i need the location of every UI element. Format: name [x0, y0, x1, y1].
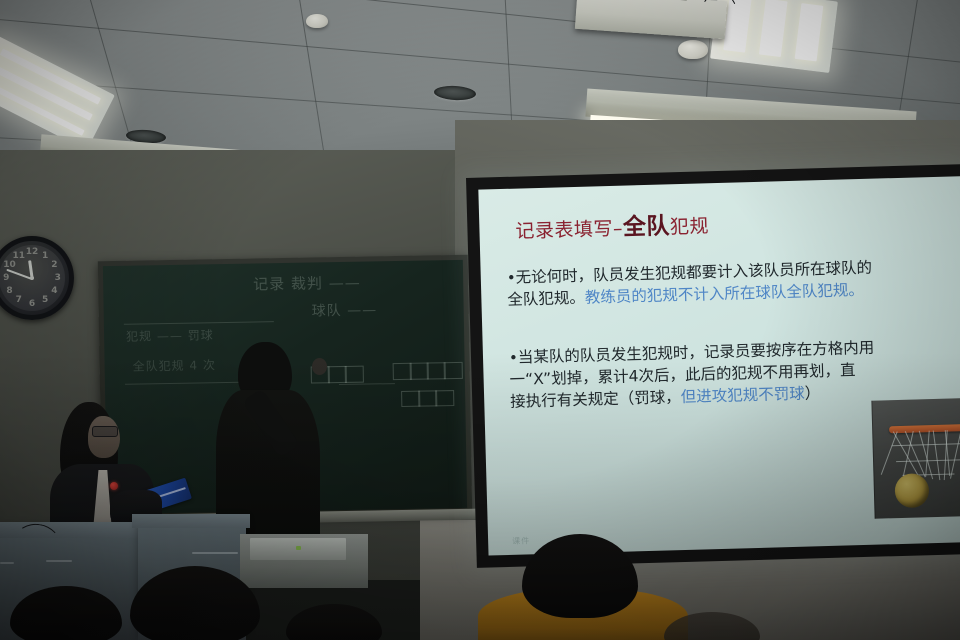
clock-numeral: 3 [55, 273, 61, 283]
podium-edge-highlight [192, 552, 238, 554]
podium-edge-highlight [0, 562, 14, 564]
clock-numeral: 1 [42, 251, 48, 261]
basketball-hoop-image [871, 398, 960, 519]
classroom-photo-scene: 12 1 2 3 4 5 6 7 8 9 10 11 记录 裁判 —— 球队 —… [0, 0, 960, 640]
podium-edge-highlight [46, 560, 72, 562]
student-silhouette-center [286, 604, 382, 640]
clock-numeral: 6 [29, 299, 35, 309]
clock-numeral: 12 [26, 247, 39, 257]
bullet-line: 接执行有关规定（罚球， [510, 388, 681, 411]
slide-footer-note: 课件 [512, 535, 530, 546]
clock-face: 12 1 2 3 4 5 6 7 8 9 10 11 [0, 245, 65, 311]
woman-face [88, 416, 120, 458]
bullet-line-highlighted: 但进攻犯规不罚球 [680, 385, 804, 406]
clock-numeral: 8 [6, 286, 12, 296]
slide-bullet-1: •无论何时，队员发生犯规都要计入该队员所在球队的 全队犯规。教练员的犯规不计入所… [506, 254, 960, 311]
lecture-podium-right-top [132, 514, 250, 528]
clock-numeral: 2 [51, 260, 57, 270]
clock-minute-hand [6, 269, 32, 280]
slide-title-prefix: 记录表填写– [515, 218, 623, 243]
slide-title-emphasis: 全队 [623, 213, 671, 240]
pc-status-led [296, 546, 301, 550]
clock-center-pin [30, 276, 34, 280]
slide-title-suffix: 犯规 [670, 215, 710, 238]
chalk-text: 全队犯规 4 次 [132, 356, 216, 374]
bullet-line-highlighted: 教练员的犯规不计入所在球队全队犯规。 [585, 281, 864, 307]
slide-title: 记录表填写–全队犯规 [515, 205, 709, 244]
basketball [894, 473, 929, 508]
clock-numeral: 7 [16, 295, 22, 305]
clock-numeral: 11 [13, 251, 26, 261]
bullet-line: 全队犯规。 [507, 289, 585, 309]
clock-numeral: 9 [3, 273, 9, 283]
glasses-icon [92, 426, 118, 437]
man-hand-with-chalk [312, 358, 327, 375]
smoke-detector-1 [306, 14, 328, 28]
chalk-text: 犯规 —— 罚球 [126, 326, 214, 345]
chalk-text: 球队 —— [311, 299, 377, 320]
projection-screen: 记录表填写–全队犯规 •无论何时，队员发生犯规都要计入该队员所在球队的 全队犯规… [478, 176, 960, 555]
clock-numeral: 4 [51, 286, 57, 296]
projection-screen-frame: 记录表填写–全队犯规 •无论何时，队员发生犯规都要计入该队员所在球队的 全队犯规… [466, 164, 960, 568]
bullet-line: ） [804, 384, 820, 402]
chalk-text: 记录 裁判 —— [253, 272, 361, 295]
clock-numeral: 5 [42, 295, 48, 305]
red-badge [110, 482, 118, 490]
